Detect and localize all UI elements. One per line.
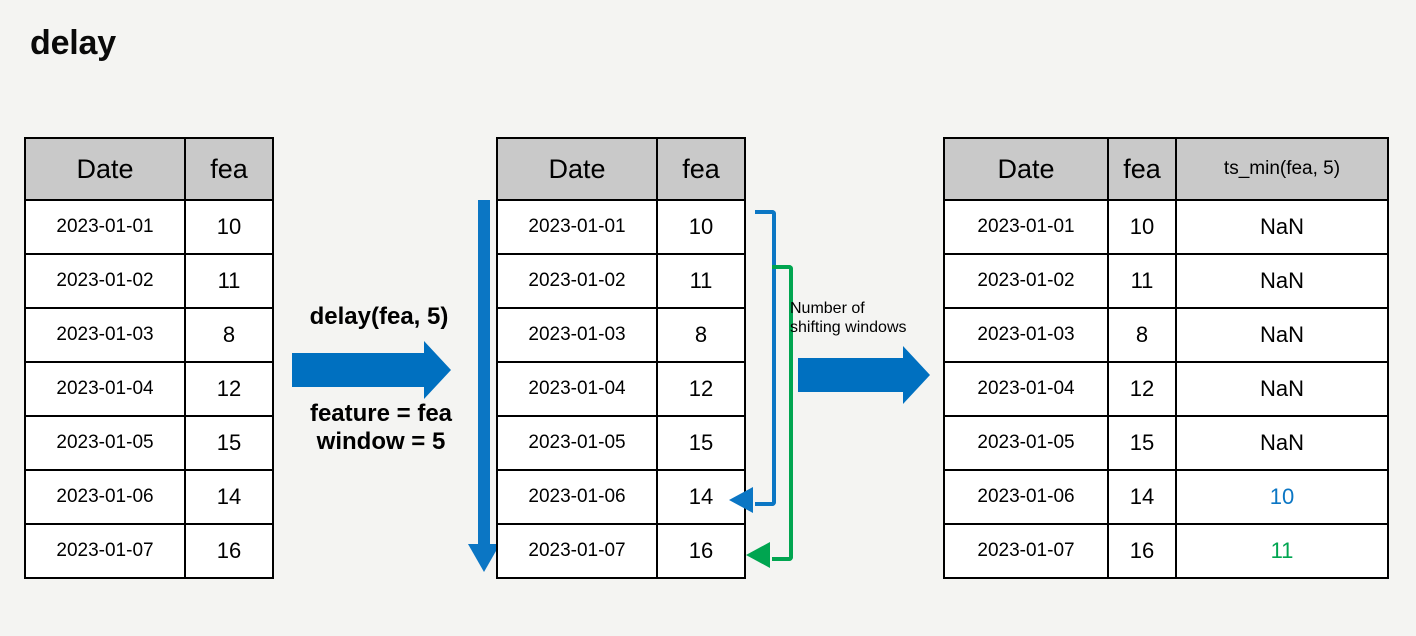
column-header-date: Date	[497, 138, 657, 200]
cell-result: NaN	[1176, 362, 1388, 416]
table-row: 2023-01-03 8 NaN	[944, 308, 1388, 362]
cell-fea: 16	[1108, 524, 1176, 578]
delay-arrow-icon	[292, 353, 424, 387]
table-row: 2023-01-03 8	[497, 308, 745, 362]
table-row: 2023-01-02 11	[25, 254, 273, 308]
table-row: 2023-01-01 10	[497, 200, 745, 254]
cell-fea: 8	[1108, 308, 1176, 362]
cell-fea: 14	[185, 470, 273, 524]
result-table: Date fea ts_min(fea, 5) 2023-01-01 10 Na…	[943, 137, 1389, 579]
cell-date: 2023-01-07	[497, 524, 657, 578]
table-row: 2023-01-06 14 10	[944, 470, 1388, 524]
cell-fea: 15	[657, 416, 745, 470]
cell-result: NaN	[1176, 200, 1388, 254]
delay-arrow-label: delay(fea, 5)	[274, 303, 484, 331]
shift-down-arrow-icon	[478, 200, 490, 545]
table-row: 2023-01-06 14	[497, 470, 745, 524]
cell-date: 2023-01-06	[944, 470, 1108, 524]
column-header-fea: fea	[1108, 138, 1176, 200]
source-table: Date fea 2023-01-01 10 2023-01-02 11 202…	[24, 137, 274, 579]
cell-fea: 10	[185, 200, 273, 254]
cell-date: 2023-01-05	[944, 416, 1108, 470]
cell-date: 2023-01-02	[497, 254, 657, 308]
cell-date: 2023-01-02	[25, 254, 185, 308]
cell-fea: 14	[1108, 470, 1176, 524]
cell-date: 2023-01-01	[944, 200, 1108, 254]
table-row: 2023-01-07 16	[25, 524, 273, 578]
cell-fea: 16	[657, 524, 745, 578]
table-row: 2023-01-02 11 NaN	[944, 254, 1388, 308]
table-row: 2023-01-05 15	[497, 416, 745, 470]
cell-fea: 15	[185, 416, 273, 470]
column-header-ts-min: ts_min(fea, 5)	[1176, 138, 1388, 200]
cell-fea: 8	[657, 308, 745, 362]
table-row: 2023-01-04 12	[497, 362, 745, 416]
windows-arrow-icon	[798, 358, 903, 392]
table-header-row: Date fea	[25, 138, 273, 200]
cell-fea: 15	[1108, 416, 1176, 470]
cell-fea: 10	[657, 200, 745, 254]
cell-date: 2023-01-04	[497, 362, 657, 416]
delay-arrow-params-label: feature = fea window = 5	[274, 400, 488, 457]
cell-date: 2023-01-07	[25, 524, 185, 578]
cell-fea: 11	[185, 254, 273, 308]
cell-fea: 12	[185, 362, 273, 416]
delayed-table: Date fea 2023-01-01 10 2023-01-02 11 202…	[496, 137, 746, 579]
cell-result: NaN	[1176, 308, 1388, 362]
cell-result: NaN	[1176, 416, 1388, 470]
table-row: 2023-01-03 8	[25, 308, 273, 362]
cell-date: 2023-01-02	[944, 254, 1108, 308]
table-row: 2023-01-01 10	[25, 200, 273, 254]
cell-date: 2023-01-03	[25, 308, 185, 362]
cell-date: 2023-01-06	[25, 470, 185, 524]
table-row: 2023-01-04 12	[25, 362, 273, 416]
cell-fea: 10	[1108, 200, 1176, 254]
cell-date: 2023-01-03	[497, 308, 657, 362]
cell-result: NaN	[1176, 254, 1388, 308]
table-row: 2023-01-05 15 NaN	[944, 416, 1388, 470]
column-header-fea: fea	[657, 138, 745, 200]
cell-date: 2023-01-03	[944, 308, 1108, 362]
cell-fea: 12	[657, 362, 745, 416]
cell-date: 2023-01-04	[944, 362, 1108, 416]
cell-date: 2023-01-05	[497, 416, 657, 470]
column-header-date: Date	[944, 138, 1108, 200]
cell-date: 2023-01-07	[944, 524, 1108, 578]
cell-date: 2023-01-01	[25, 200, 185, 254]
table-row: 2023-01-05 15	[25, 416, 273, 470]
cell-fea: 11	[1108, 254, 1176, 308]
cell-date: 2023-01-01	[497, 200, 657, 254]
cell-date: 2023-01-06	[497, 470, 657, 524]
table-row: 2023-01-04 12 NaN	[944, 362, 1388, 416]
column-header-fea: fea	[185, 138, 273, 200]
page-title: delay	[30, 26, 116, 60]
cell-date: 2023-01-05	[25, 416, 185, 470]
cell-date: 2023-01-04	[25, 362, 185, 416]
cell-result: 10	[1176, 470, 1388, 524]
table-row: 2023-01-01 10 NaN	[944, 200, 1388, 254]
cell-fea: 8	[185, 308, 273, 362]
table-header-row: Date fea ts_min(fea, 5)	[944, 138, 1388, 200]
table-row: 2023-01-02 11	[497, 254, 745, 308]
cell-result: 11	[1176, 524, 1388, 578]
cell-fea: 12	[1108, 362, 1176, 416]
cell-fea: 11	[657, 254, 745, 308]
cell-fea: 16	[185, 524, 273, 578]
table-header-row: Date fea	[497, 138, 745, 200]
table-row: 2023-01-07 16 11	[944, 524, 1388, 578]
table-row: 2023-01-07 16	[497, 524, 745, 578]
shifting-windows-label: Number of shifting windows	[790, 300, 950, 338]
column-header-date: Date	[25, 138, 185, 200]
table-row: 2023-01-06 14	[25, 470, 273, 524]
